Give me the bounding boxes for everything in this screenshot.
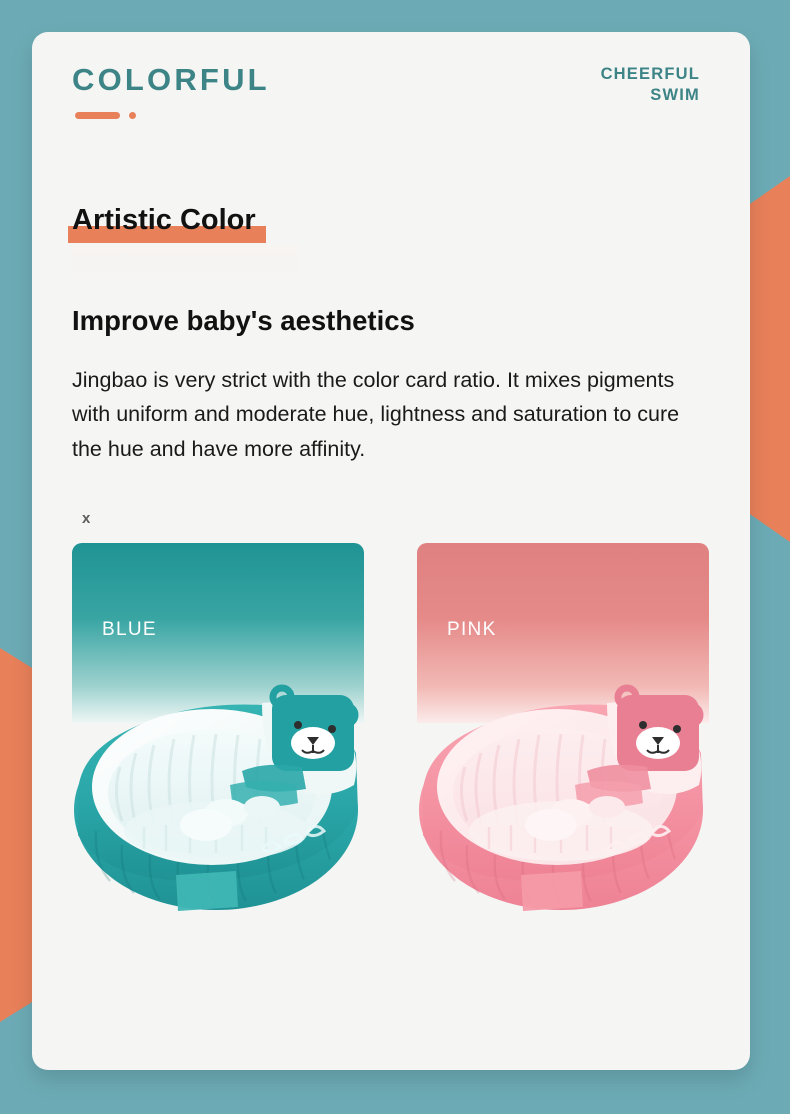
header-kicker-block: COLORFUL: [72, 60, 270, 119]
rule-dot-icon: [129, 112, 136, 119]
content-body: Artistic Color Improve baby's aesthetics…: [32, 205, 750, 527]
broken-image-icon: x: [82, 511, 98, 527]
right-edge-accent: [748, 176, 790, 542]
color-swatch-row: BLUE: [32, 543, 750, 933]
rule-dash-icon: [75, 112, 120, 119]
brand-logo-line2: SWIM: [601, 85, 700, 106]
main-content-card: COLORFUL CHEERFUL SWIM Artistic Color Im…: [32, 32, 750, 1070]
section-paragraph: Jingbao is very strict with the color ca…: [72, 363, 710, 467]
brand-logo: CHEERFUL SWIM: [601, 60, 700, 105]
kicker-rule: [75, 112, 270, 119]
product-image-bathtub-pink: [411, 635, 715, 925]
page-header: COLORFUL CHEERFUL SWIM: [32, 32, 750, 119]
page-kicker: COLORFUL: [72, 64, 270, 95]
swatch-label-blue: BLUE: [102, 619, 157, 641]
section-title: Artistic Color: [72, 205, 256, 237]
section-subheading: Improve baby's aesthetics: [72, 305, 710, 337]
product-image-bathtub-blue: [66, 635, 370, 925]
swatch-label-pink: PINK: [447, 619, 497, 641]
section-title-wrap: Artistic Color: [72, 205, 256, 237]
placeholder-block: [72, 245, 299, 291]
swatch-card-blue[interactable]: BLUE: [72, 543, 364, 933]
card-bottom-spacer: [32, 933, 750, 955]
swatch-card-pink[interactable]: PINK: [417, 543, 709, 933]
brand-logo-line1: CHEERFUL: [601, 64, 700, 85]
